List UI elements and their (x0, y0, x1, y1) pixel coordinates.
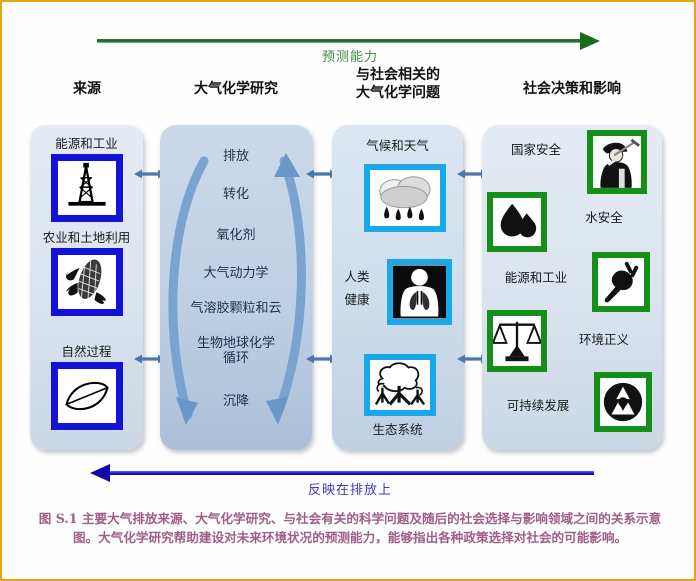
cycle-item-biogeochemical-cycles-line1: 生物地球化学 (160, 336, 312, 351)
source-label-energy: 能源和工业 (30, 136, 143, 151)
decision-label-energy-industry: 能源和工业 (486, 270, 586, 285)
cycle-item-oxidants: 氧化剂 (160, 228, 312, 243)
scales-balance-icon (487, 310, 547, 372)
cycle-item-aerosols-clouds: 气溶胶颗粒和云 (160, 301, 312, 316)
trees-icon (364, 354, 436, 416)
issue-label-human-health-line1: 人类 (334, 269, 380, 284)
column-header-issues-line2: 大气化学问题 (330, 84, 466, 102)
column-header-sources: 来源 (26, 80, 148, 98)
lungs-torso-icon (387, 259, 452, 325)
rain-cloud-icon (364, 164, 446, 232)
issue-label-ecosystems: 生态系统 (332, 422, 463, 437)
decision-label-water-security: 水安全 (558, 210, 650, 225)
decision-label-environmental-justice: 环境正义 (558, 332, 650, 347)
predictive-capability-label: 预测能力 (2, 46, 696, 65)
source-label-natural: 自然过程 (30, 344, 143, 359)
figure-caption: 图 S.1 主要大气排放来源、大气化学研究、与社会有关的科学问题及随后的社会选择… (28, 509, 672, 547)
column-header-issues-line1: 与社会相关的 (330, 66, 466, 84)
feedback-emissions-label: 反映在排放上 (2, 479, 696, 498)
cycle-item-dynamics: 大气动力学 (160, 266, 312, 281)
soldier-icon (587, 130, 647, 194)
cycle-item-transformation: 转化 (160, 187, 312, 202)
decision-label-national-security: 国家安全 (488, 142, 584, 157)
feedback-emissions-arrow-line (107, 471, 594, 475)
recycle-icon (594, 372, 652, 432)
figure-container: 预测能力 来源 大气化学研究 与社会相关的 大气化学问题 社会决策和影响 能源和… (0, 0, 696, 581)
leaf-icon (51, 362, 123, 430)
cycle-item-emissions: 排放 (160, 149, 312, 164)
predictive-capability-arrow-line (97, 39, 584, 43)
water-drops-icon (487, 192, 547, 252)
issue-label-human-health-line2: 健康 (334, 292, 380, 307)
cycle-item-deposition: 沉降 (160, 394, 312, 409)
corn-icon (51, 248, 123, 316)
column-header-decisions: 社会决策和影响 (480, 80, 664, 98)
issue-label-climate-weather: 气候和天气 (332, 138, 463, 153)
source-label-agriculture: 农业和土地利用 (26, 230, 147, 245)
oil-derrick-icon (51, 154, 123, 222)
column-header-research: 大气化学研究 (160, 80, 312, 98)
cycle-item-biogeochemical-cycles-line2: 循环 (160, 351, 312, 366)
power-plug-icon (592, 252, 650, 312)
column-header-issues: 与社会相关的 大气化学问题 (330, 66, 466, 102)
decision-label-sustainable-development: 可持续发展 (486, 398, 590, 413)
